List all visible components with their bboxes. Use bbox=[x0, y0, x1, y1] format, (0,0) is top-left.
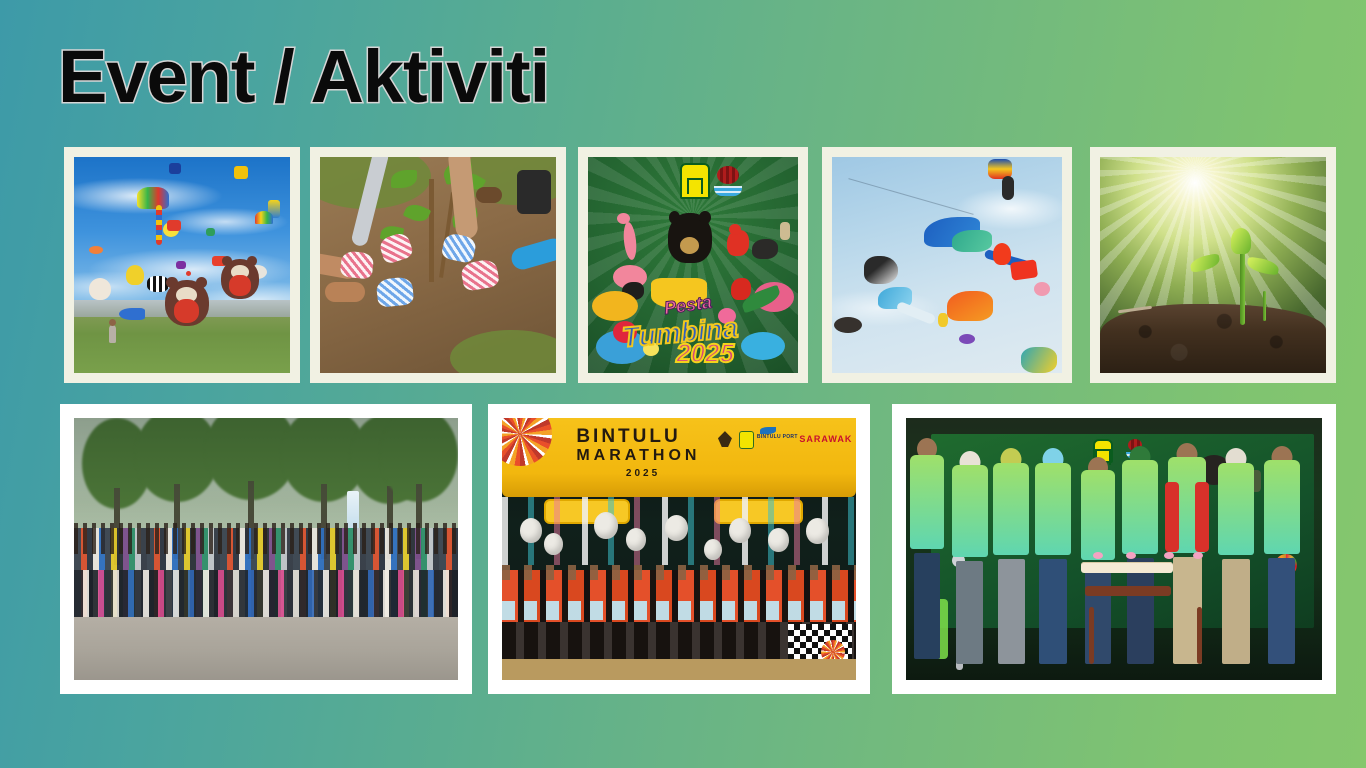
balloon bbox=[729, 518, 751, 543]
glove-red bbox=[340, 250, 375, 279]
sponsor-logo-bintulu-port: BINTULU PORT bbox=[757, 434, 798, 440]
photo-bintulu-marathon-2025-start: BINTULU MARATHON 2025 BINTULU PORT SARAW… bbox=[502, 418, 856, 680]
kite-streamer bbox=[137, 187, 169, 209]
gallery-item-kite-festival-field[interactable] bbox=[64, 147, 300, 383]
kite-rainbow-fan bbox=[255, 211, 273, 224]
vip-person bbox=[993, 463, 1029, 665]
ceremony-table bbox=[1085, 586, 1171, 596]
arm-sleeve-blue bbox=[509, 236, 556, 272]
seedling-leaf-top bbox=[1231, 228, 1251, 254]
crowd-front-row bbox=[74, 570, 458, 617]
squirrel-kite-large bbox=[221, 259, 259, 299]
kite-small bbox=[89, 246, 103, 254]
kite-yellow-small bbox=[938, 313, 948, 327]
kite-blue-fish bbox=[119, 308, 145, 320]
balloon bbox=[768, 528, 789, 552]
page-title: Event / Aktiviti bbox=[58, 40, 549, 114]
balloon bbox=[626, 528, 646, 551]
gallery-item-pesta-tumbina-2025-poster[interactable]: Pesta Tumbina 2025 bbox=[578, 147, 808, 383]
cake-rose-decoration bbox=[1193, 552, 1203, 559]
photo-seedling-sunlight bbox=[1100, 157, 1326, 373]
photo-kite-festival-field bbox=[74, 157, 290, 373]
gallery-item-community-group-photo-park[interactable] bbox=[60, 404, 472, 694]
crowd-heads bbox=[74, 523, 458, 554]
marathon-banner-year: 2025 bbox=[626, 468, 660, 479]
arm-skin bbox=[325, 282, 365, 302]
gallery-item-tree-planting-hands[interactable] bbox=[310, 147, 566, 383]
photo-tree-planting-hands bbox=[320, 157, 556, 373]
kite-orange-dinosaur bbox=[947, 291, 993, 321]
kite-dark-left bbox=[834, 317, 862, 333]
photo-community-group-photo-park bbox=[74, 418, 458, 680]
gallery-item-cake-cutting-ceremony[interactable] bbox=[892, 404, 1336, 694]
state-crest-icon bbox=[680, 163, 710, 199]
vip-person bbox=[1218, 463, 1254, 665]
spectator-walking bbox=[109, 325, 116, 343]
gallery-item-seedling-sunlight[interactable] bbox=[1090, 147, 1336, 383]
balloon bbox=[594, 512, 618, 539]
glove-blue bbox=[375, 276, 414, 308]
cake-rose-decoration bbox=[1126, 552, 1136, 559]
kite-red-small bbox=[993, 243, 1011, 265]
balloon bbox=[704, 539, 722, 560]
shoe-dark bbox=[476, 187, 502, 203]
poster-year: 2025 bbox=[676, 338, 734, 369]
kite-yellow-figure bbox=[126, 265, 144, 285]
ceremonial-cake bbox=[1081, 562, 1173, 573]
photo-pesta-tumbina-2025-poster: Pesta Tumbina 2025 bbox=[588, 157, 798, 373]
vip-person bbox=[1035, 463, 1071, 665]
soil-mound bbox=[1100, 304, 1326, 373]
vip-person bbox=[1264, 460, 1300, 664]
marathon-banner-subtitle: MARATHON bbox=[576, 447, 700, 465]
macaw-head bbox=[729, 224, 741, 235]
kite-small bbox=[234, 166, 248, 179]
kite-tail bbox=[156, 205, 162, 245]
kite-seahorse-body bbox=[952, 230, 992, 252]
vip-person bbox=[952, 465, 988, 664]
kite-small bbox=[176, 261, 186, 269]
vip-red-vest bbox=[1195, 482, 1209, 552]
kite-red-box bbox=[167, 220, 181, 231]
kite-small bbox=[206, 228, 215, 236]
kite-teal-yellow-bottom bbox=[1021, 347, 1057, 373]
photo-dragon-kites-sky bbox=[832, 157, 1062, 373]
sapling-leaf bbox=[403, 200, 431, 224]
sun-bear-illustration bbox=[668, 213, 712, 263]
bird-dark-illustration bbox=[752, 239, 778, 259]
antler-shape bbox=[780, 222, 790, 240]
seedling-sprout-small bbox=[1263, 291, 1266, 321]
kite-white-bear bbox=[89, 278, 111, 300]
gallery-item-bintulu-marathon-2025-start[interactable]: BINTULU MARATHON 2025 BINTULU PORT SARAW… bbox=[488, 404, 870, 694]
balloon bbox=[806, 518, 829, 544]
colour-splash bbox=[592, 291, 638, 321]
glove-red bbox=[459, 258, 499, 292]
table-leg bbox=[1197, 607, 1202, 665]
squirrel-kite-large bbox=[165, 280, 209, 326]
kite-red-banner bbox=[1010, 259, 1038, 280]
kite-small bbox=[169, 163, 181, 174]
kite-black-white-bunny bbox=[864, 256, 898, 284]
ground-foreground bbox=[502, 659, 856, 680]
sponsor-logo-state-crest-icon bbox=[739, 431, 754, 449]
table-leg bbox=[1089, 607, 1094, 665]
balloon bbox=[665, 515, 688, 541]
runner-bibs bbox=[502, 601, 856, 619]
cake-rose-decoration bbox=[1093, 552, 1103, 559]
cake-rose-decoration bbox=[1164, 552, 1174, 559]
marathon-banner-title: BINTULU bbox=[576, 426, 680, 448]
vip-red-vest bbox=[1165, 482, 1179, 552]
vip-person bbox=[910, 455, 944, 659]
grass-patch bbox=[450, 330, 556, 373]
sapling-stem bbox=[429, 179, 434, 283]
bag-dark bbox=[517, 170, 551, 214]
kite-purple-small bbox=[959, 334, 975, 344]
gallery-item-dragon-kites-sky[interactable] bbox=[822, 147, 1072, 383]
agency-globe-icon bbox=[714, 166, 742, 196]
sponsor-logo-sarawak: SARAWAK bbox=[799, 434, 852, 444]
balloon bbox=[520, 518, 542, 543]
photo-cake-cutting-ceremony bbox=[906, 418, 1322, 680]
runner-heads bbox=[502, 565, 856, 581]
seedling-stem bbox=[1240, 252, 1245, 325]
kite-dark-tail bbox=[1002, 176, 1014, 200]
